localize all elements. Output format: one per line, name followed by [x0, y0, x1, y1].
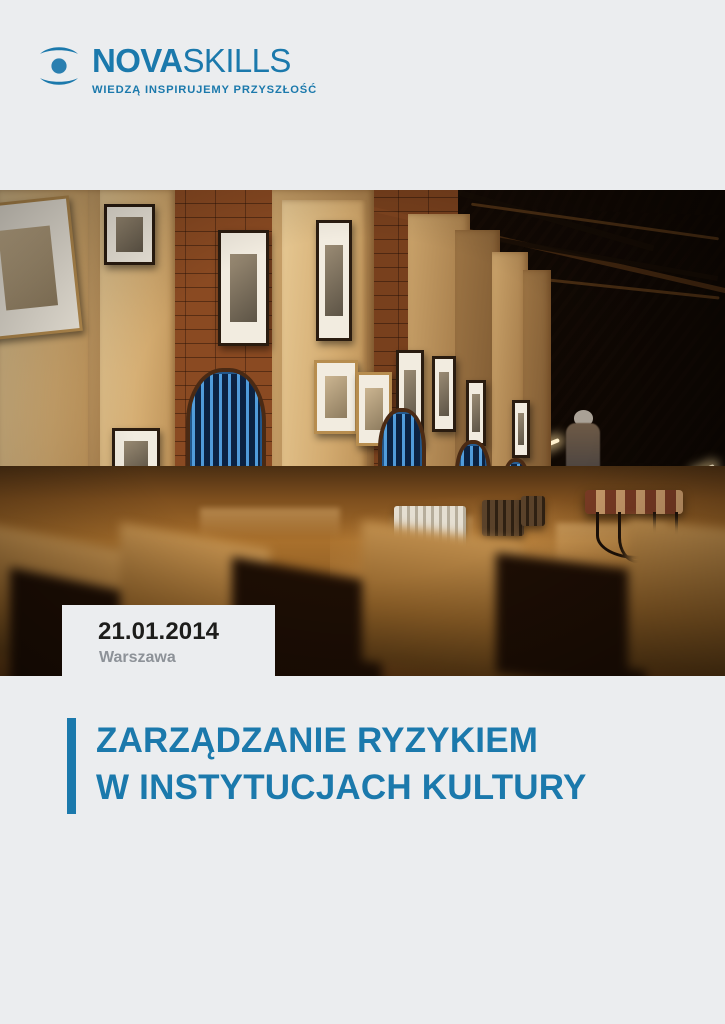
- logo-wordmark: NOVASKILLS: [92, 44, 317, 78]
- event-city: Warszawa: [99, 649, 176, 667]
- bench: [585, 490, 683, 514]
- logo-wordmark-bold: NOVA: [92, 42, 183, 79]
- header: NOVASKILLS WIEDZĄ INSPIRUJEMY PRZYSZŁOŚĆ: [0, 0, 725, 190]
- poster-title: ZARZĄDZANIE RYZYKIEM W INSTYTUCJACH KULT…: [0, 700, 725, 830]
- title-line-1: ZARZĄDZANIE RYZYKIEM: [96, 717, 587, 764]
- poster-page: NOVASKILLS WIEDZĄ INSPIRUJEMY PRZYSZŁOŚĆ: [0, 0, 725, 1024]
- radiator: [521, 496, 545, 526]
- hero-photo: [0, 190, 725, 676]
- framed-artwork: [512, 400, 530, 458]
- logo[interactable]: NOVASKILLS WIEDZĄ INSPIRUJEMY PRZYSZŁOŚĆ: [36, 44, 317, 96]
- logo-tagline: WIEDZĄ INSPIRUJEMY PRZYSZŁOŚĆ: [92, 84, 317, 96]
- framed-artwork: [314, 360, 358, 434]
- event-date: 21.01.2014: [98, 618, 219, 646]
- title-lines: ZARZĄDZANIE RYZYKIEM W INSTYTUCJACH KULT…: [96, 717, 587, 811]
- title-accent-bar: [67, 718, 76, 814]
- framed-artwork: [316, 220, 352, 341]
- framed-artwork: [466, 380, 486, 446]
- radiator: [482, 500, 524, 536]
- framed-artwork: [0, 195, 83, 340]
- framed-artwork: [104, 204, 155, 265]
- title-line-2: W INSTYTUCJACH KULTURY: [96, 764, 587, 811]
- framed-artwork: [218, 230, 269, 346]
- event-date-box: 21.01.2014 Warszawa: [62, 605, 275, 676]
- framed-artwork: [432, 356, 456, 432]
- logo-text: NOVASKILLS WIEDZĄ INSPIRUJEMY PRZYSZŁOŚĆ: [92, 44, 317, 96]
- eye-logo-icon: [36, 44, 82, 88]
- hero-photo-scene: [0, 190, 725, 676]
- logo-wordmark-light: SKILLS: [183, 42, 291, 79]
